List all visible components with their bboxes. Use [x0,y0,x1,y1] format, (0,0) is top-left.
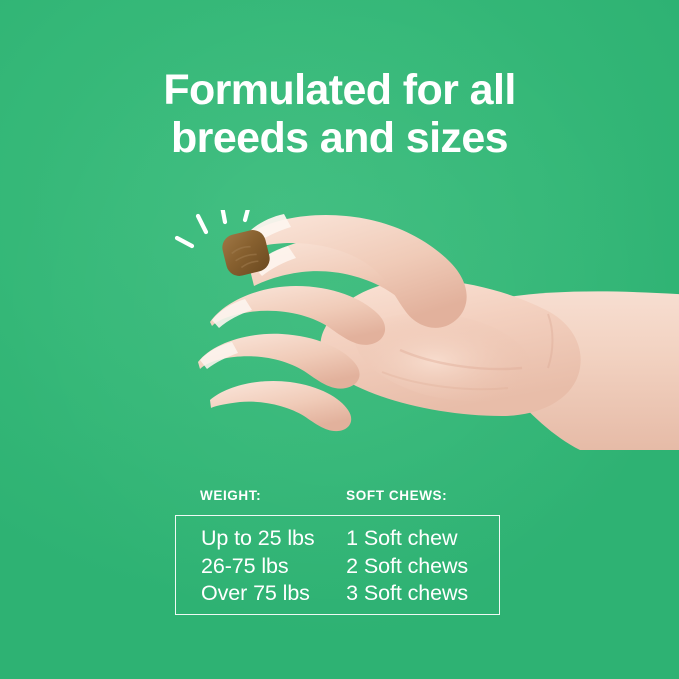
cell-weight: 26-75 lbs [201,553,346,581]
page-title: Formulated for all breeds and sizes [0,66,679,162]
hand-illustration [150,210,679,450]
headline-line-1: Formulated for all [163,66,515,114]
cell-chews: 3 Soft chews [346,580,499,608]
headline-line-2: breeds and sizes [0,114,679,162]
cell-chews: 1 Soft chew [346,525,499,553]
hand-photo [150,210,679,450]
table-row: Up to 25 lbs 1 Soft chew [201,525,499,553]
dosage-table-body: Up to 25 lbs 1 Soft chew 26-75 lbs 2 Sof… [175,515,500,615]
dosage-table-header: WEIGHT: SOFT CHEWS: [175,488,500,503]
product-infographic: Formulated for all breeds and sizes [0,0,679,679]
dosage-table: WEIGHT: SOFT CHEWS: Up to 25 lbs 1 Soft … [175,488,500,615]
little-finger [210,381,351,431]
column-header-weight: WEIGHT: [200,488,346,503]
cell-weight: Over 75 lbs [201,580,346,608]
table-row: Over 75 lbs 3 Soft chews [201,580,499,608]
table-row: 26-75 lbs 2 Soft chews [201,553,499,581]
cell-chews: 2 Soft chews [346,553,499,581]
column-header-soft-chews: SOFT CHEWS: [346,488,500,503]
cell-weight: Up to 25 lbs [201,525,346,553]
